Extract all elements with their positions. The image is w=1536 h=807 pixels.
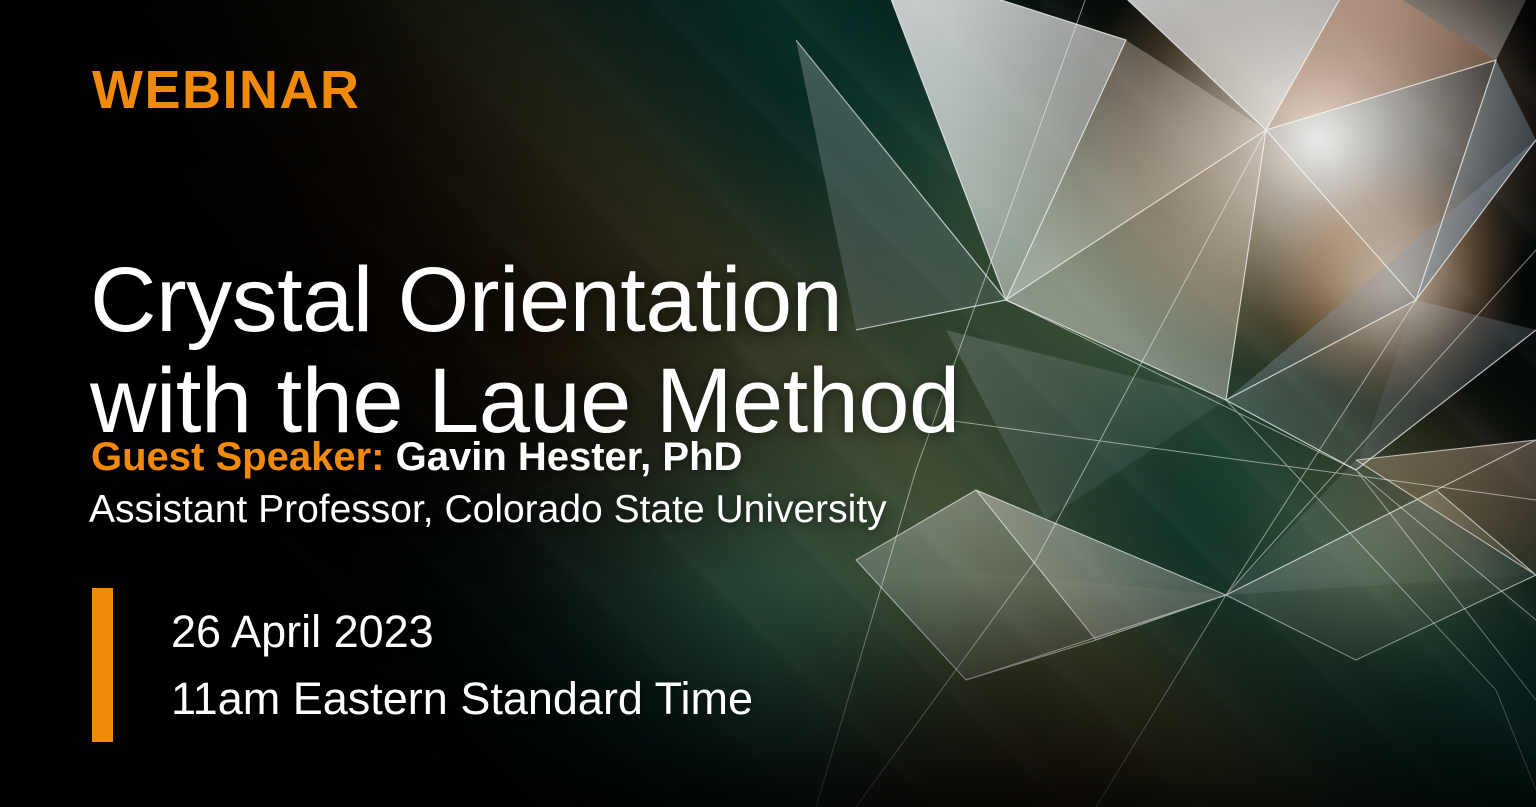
speaker-label: Guest Speaker: xyxy=(91,435,384,479)
schedule-text: 26 April 2023 11am Eastern Standard Time xyxy=(171,588,753,742)
event-time: 11am Eastern Standard Time xyxy=(171,676,753,721)
speaker-affiliation: Assistant Professor, Colorado State Univ… xyxy=(89,487,887,533)
page-title: Crystal Orientation with the Laue Method xyxy=(90,250,960,452)
eyebrow-label: WEBINAR xyxy=(92,63,360,117)
webinar-promo-banner: WEBINAR Crystal Orientation with the Lau… xyxy=(0,0,1536,807)
speaker-line: Guest Speaker: Gavin Hester, PhD xyxy=(91,434,742,481)
poster-content: WEBINAR Crystal Orientation with the Lau… xyxy=(0,0,1536,807)
schedule-block: 26 April 2023 11am Eastern Standard Time xyxy=(92,588,753,742)
speaker-name: Gavin Hester, PhD xyxy=(396,435,743,479)
accent-bar xyxy=(92,588,113,742)
event-date: 26 April 2023 xyxy=(171,609,753,654)
